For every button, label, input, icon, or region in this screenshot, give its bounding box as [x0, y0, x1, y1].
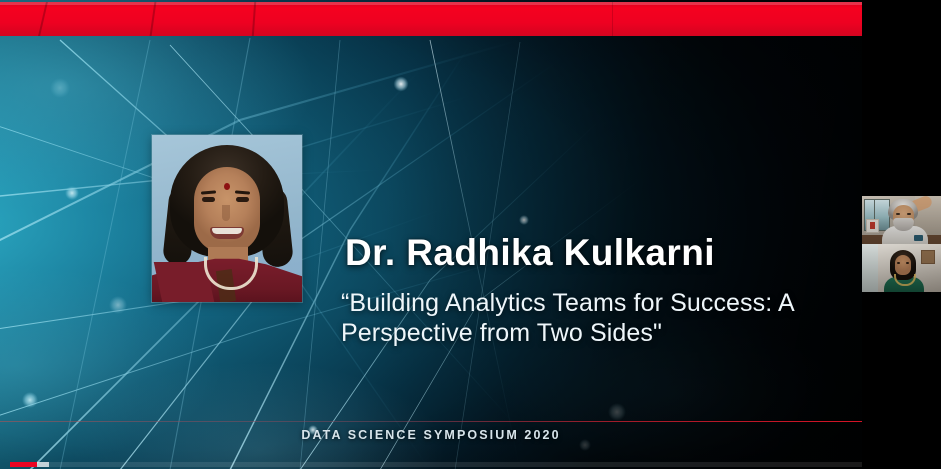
red-band-highlight	[0, 2, 862, 5]
speaker-photo	[152, 135, 302, 302]
red-band-seam	[38, 2, 48, 36]
progress-buffered	[37, 462, 49, 467]
photo-eye	[236, 197, 249, 202]
video-progress-bar[interactable]	[10, 462, 862, 467]
footer-divider	[0, 421, 862, 422]
photo-teeth	[212, 228, 242, 234]
photo-eye	[202, 197, 215, 202]
photo-nose	[222, 205, 230, 221]
event-footer: DATA SCIENCE SYMPOSIUM 2020	[0, 428, 862, 442]
red-band-seam	[150, 2, 157, 36]
red-band-seam	[612, 2, 613, 36]
talk-title: “Building Analytics Teams for Success: A…	[341, 288, 796, 348]
photo-mouth	[210, 227, 244, 239]
screen-root: Dr. Radhika Kulkarni “Building Analytics…	[0, 0, 941, 469]
participant-tile-1[interactable]	[862, 196, 941, 244]
participant-tile-2[interactable]	[862, 244, 941, 292]
photo-bindi	[224, 183, 230, 190]
speaker-name: Dr. Radhika Kulkarni	[345, 232, 715, 274]
red-band-seam	[252, 2, 256, 36]
participant-video-panel	[862, 0, 941, 469]
tile1-shading	[862, 196, 941, 244]
shared-slide: Dr. Radhika Kulkarni “Building Analytics…	[0, 0, 862, 469]
tile2-shading	[862, 244, 941, 292]
top-red-band	[0, 2, 862, 36]
progress-played	[10, 462, 37, 467]
